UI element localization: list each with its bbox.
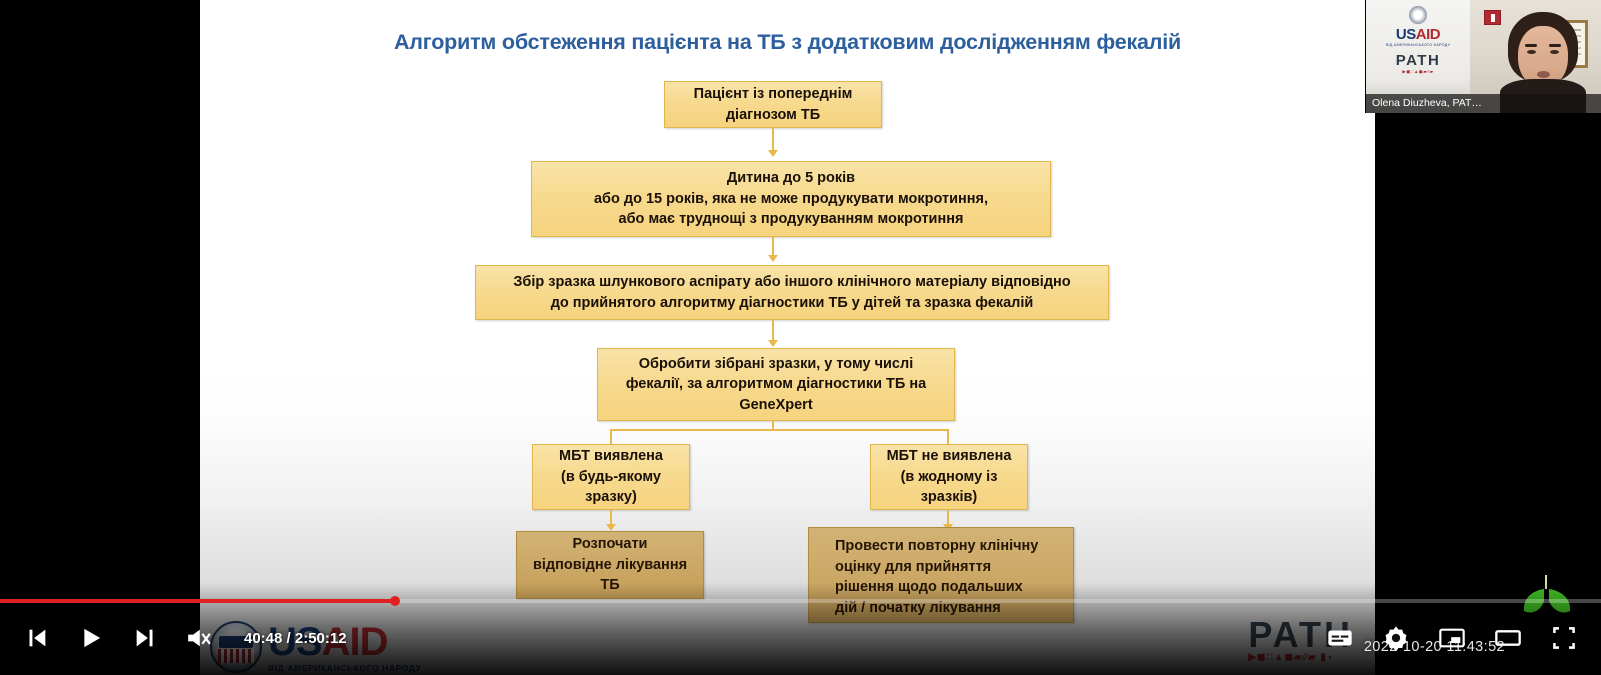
usaid-tagline: ВІД АМЕРИКАНСЬКОГО НАРОДУ — [268, 664, 422, 673]
box-sample-collection: Збір зразка шлункового аспірату або іншо… — [475, 265, 1109, 320]
settings-gear-icon[interactable] — [1381, 623, 1411, 653]
play-button[interactable] — [76, 623, 106, 653]
lungs-icon — [1513, 573, 1583, 615]
box-line: Дитина до 5 років — [727, 168, 855, 189]
usaid-word-id: ID — [349, 620, 387, 664]
box-line: або до 15 років, яка не може продукувати… — [594, 189, 988, 210]
box-reassess: Провести повторну клінічну оцінку для пр… — [808, 527, 1074, 623]
box-line: відповідне лікування — [533, 555, 687, 576]
box-line: Обробити зібрані зразки, у тому числі — [639, 354, 913, 375]
connector-3 — [772, 320, 774, 342]
box-line: оцінку для прийняття — [835, 557, 991, 578]
connector-2 — [772, 237, 774, 257]
box-line: Провести повторну клінічну — [835, 536, 1038, 557]
connector-1 — [772, 128, 774, 152]
webcam-usaid-a: A — [1416, 26, 1426, 43]
presenter-eye-left — [1527, 50, 1536, 54]
box-mtb-detected: МБТ виявлена (в будь-якому зразку) — [532, 444, 690, 510]
progress-bar-track[interactable] — [0, 599, 1601, 603]
webcam-usaid-word: USAID — [1376, 26, 1460, 43]
webcam-usaid-tagline: ВІД АМЕРИКАНСЬКОГО НАРОДУ — [1376, 43, 1460, 47]
presenter-eye-right — [1550, 50, 1559, 54]
box-age-criteria: Дитина до 5 років або до 15 років, яка н… — [531, 161, 1051, 237]
subtitles-icon[interactable] — [1325, 623, 1355, 653]
box-line: діагнозом ТБ — [726, 105, 820, 126]
box-start-treatment: Розпочати відповідне лікування ТБ — [516, 531, 704, 599]
player-controls-left: 40:48 / 2:50:12 — [22, 613, 347, 663]
box-line: рішення щодо подальших — [835, 577, 1023, 598]
fullscreen-icon[interactable] — [1549, 623, 1579, 653]
box-line: Пацієнт із попереднім — [694, 84, 853, 105]
presentation-slide: Алгоритм обстеження пацієнта на ТБ з дод… — [200, 0, 1375, 675]
time-display: 40:48 / 2:50:12 — [244, 630, 347, 647]
box-line: або має труднощі з продукуванням мокроти… — [619, 209, 964, 230]
box-line: (в жодному із — [901, 467, 998, 488]
arrowhead-2 — [768, 255, 778, 262]
presenter-brow-left — [1525, 44, 1537, 47]
webcam-path-subtext: ▶◼∷▲◼▰∕∕▰ — [1376, 69, 1460, 75]
arrowhead-5 — [606, 524, 616, 531]
wall-sign-icon — [1484, 10, 1501, 25]
box-line: Розпочати — [573, 534, 648, 555]
webcam-path-word: PATH — [1376, 52, 1460, 69]
webcam-overlay[interactable]: USAID ВІД АМЕРИКАНСЬКОГО НАРОДУ PATH ▶◼∷… — [1365, 0, 1601, 113]
webcam-usaid-id: ID — [1426, 26, 1440, 43]
box-line: (в будь-якому — [561, 467, 661, 488]
box-line: МБТ не виявлена — [887, 446, 1012, 467]
box-mtb-not-detected: МБТ не виявлена (в жодному із зразків) — [870, 444, 1028, 510]
miniplayer-icon[interactable] — [1437, 623, 1467, 653]
box-line: до прийнятого алгоритму діагностики ТБ у… — [551, 293, 1034, 314]
box-line: зразку) — [585, 487, 637, 508]
mute-button[interactable] — [184, 623, 214, 653]
video-player: Алгоритм обстеження пацієнта на ТБ з дод… — [0, 0, 1601, 675]
box-line: зразків) — [921, 487, 978, 508]
webcam-usaid-logo: USAID ВІД АМЕРИКАНСЬКОГО НАРОДУ — [1376, 6, 1460, 47]
box-line: МБТ виявлена — [559, 446, 663, 467]
arrowhead-3 — [768, 340, 778, 347]
box-line: ТБ — [600, 575, 619, 596]
presenter-mouth — [1537, 71, 1550, 78]
box-initial-diagnosis: Пацієнт із попереднім діагнозом ТБ — [664, 81, 882, 128]
box-line: Збір зразка шлункового аспірату або іншо… — [513, 272, 1070, 293]
presenter-brow-right — [1549, 44, 1561, 47]
theater-mode-icon[interactable] — [1493, 623, 1523, 653]
page-title: Алгоритм обстеження пацієнта на ТБ з дод… — [200, 30, 1375, 55]
next-track-button[interactable] — [130, 623, 160, 653]
box-line: GeneXpert — [739, 395, 812, 416]
previous-track-button[interactable] — [22, 623, 52, 653]
player-controls-right — [1325, 613, 1579, 663]
connector-split-horiz — [610, 429, 948, 431]
box-line: фекалії, за алгоритмом діагностики ТБ на — [626, 374, 926, 395]
webcam-usaid-us: US — [1396, 26, 1416, 43]
webcam-path-logo: PATH ▶◼∷▲◼▰∕∕▰ — [1376, 52, 1460, 75]
arrowhead-1 — [768, 150, 778, 157]
webcam-name-label: Olena Diuzheva, PAT… — [1366, 94, 1601, 113]
progress-bar-fill — [0, 599, 395, 603]
webcam-usaid-seal-icon — [1409, 6, 1427, 24]
box-genexpert-processing: Обробити зібрані зразки, у тому числі фе… — [597, 348, 955, 421]
